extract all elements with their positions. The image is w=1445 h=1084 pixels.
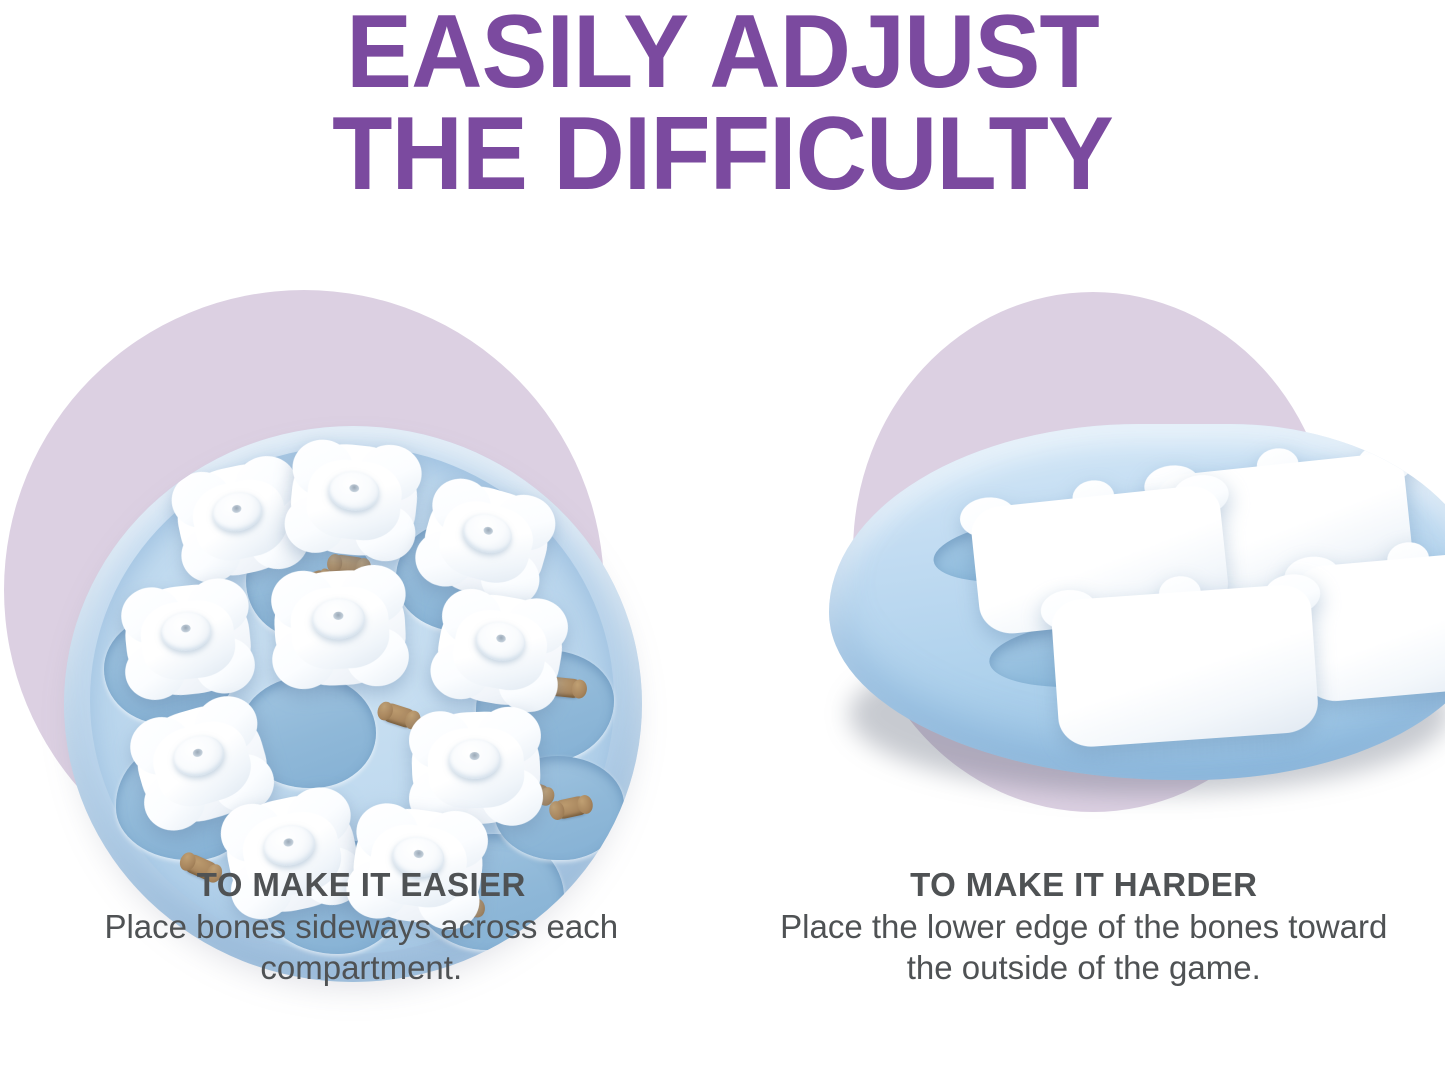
caption-harder-body: Place the lower edge of the bones toward… <box>723 907 1445 988</box>
bone-piece-upright[interactable] <box>1050 583 1320 749</box>
caption-harder-title: TO MAKE IT HARDER <box>723 866 1445 904</box>
caption-easier-body: Place bones sideways across each compart… <box>0 907 723 988</box>
panel-easier <box>0 276 700 866</box>
caption-easier: TO MAKE IT EASIER Place bones sideways a… <box>0 866 723 988</box>
page-title: EASILY ADJUST THE DIFFICULTY <box>0 0 1445 204</box>
bone-piece[interactable] <box>430 586 570 713</box>
bone-piece[interactable] <box>286 439 422 561</box>
captions-row: TO MAKE IT EASIER Place bones sideways a… <box>0 866 1445 988</box>
headline-line-2: THE DIFFICULTY <box>36 102 1409 204</box>
caption-easier-title: TO MAKE IT EASIER <box>0 866 723 904</box>
infographic-canvas: EASILY ADJUST THE DIFFICULTY <box>0 0 1445 1084</box>
caption-harder: TO MAKE IT HARDER Place the lower edge o… <box>723 866 1445 988</box>
bone-piece[interactable] <box>272 568 408 689</box>
bone-piece[interactable] <box>410 710 542 826</box>
product-photo-harder <box>771 396 1445 846</box>
panel-harder <box>735 276 1445 866</box>
headline-line-1: EASILY ADJUST <box>36 0 1409 102</box>
bone-piece[interactable] <box>121 579 256 700</box>
